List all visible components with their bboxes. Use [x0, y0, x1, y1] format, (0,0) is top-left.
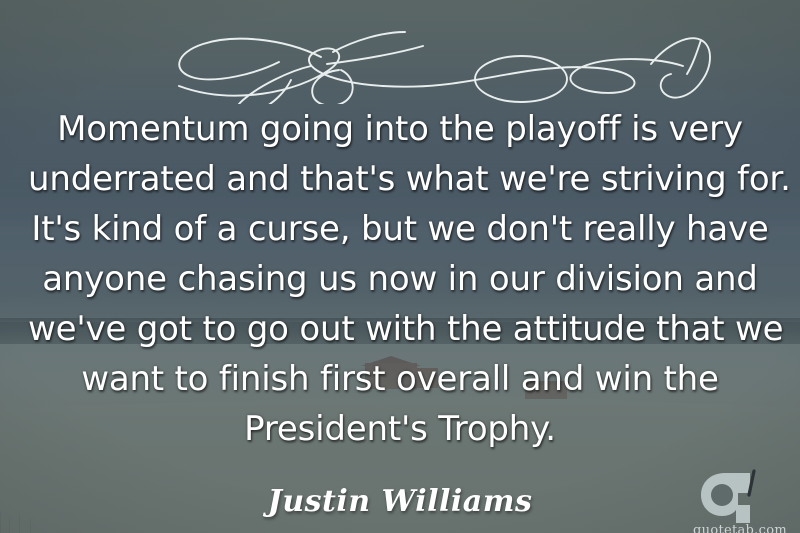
quote-line: underrated and that's what we're strivin…	[28, 154, 772, 204]
quotetab-logo-icon[interactable]	[692, 469, 788, 523]
quote-image-card: Momentum going into the playoff is very …	[0, 0, 800, 533]
quote-text: Momentum going into the playoff is very …	[28, 104, 772, 454]
quote-line: anyone chasing us now in our division an…	[28, 254, 772, 304]
watermark[interactable]: quotetab.com	[692, 469, 788, 533]
flourish-ornament-icon	[83, 30, 717, 104]
watermark-site-label[interactable]: quotetab.com	[692, 523, 788, 533]
quote-line: It's kind of a curse, but we don't reall…	[28, 204, 772, 254]
quote-line: Momentum going into the playoff is very	[28, 104, 772, 154]
quote-line: we've got to go out with the attitude th…	[28, 304, 772, 354]
quote-line: President's Trophy.	[28, 404, 772, 454]
card-content: Momentum going into the playoff is very …	[0, 22, 800, 533]
quote-author: Justin Williams	[0, 484, 800, 519]
quote-line: want to finish first overall and win the	[28, 354, 772, 404]
